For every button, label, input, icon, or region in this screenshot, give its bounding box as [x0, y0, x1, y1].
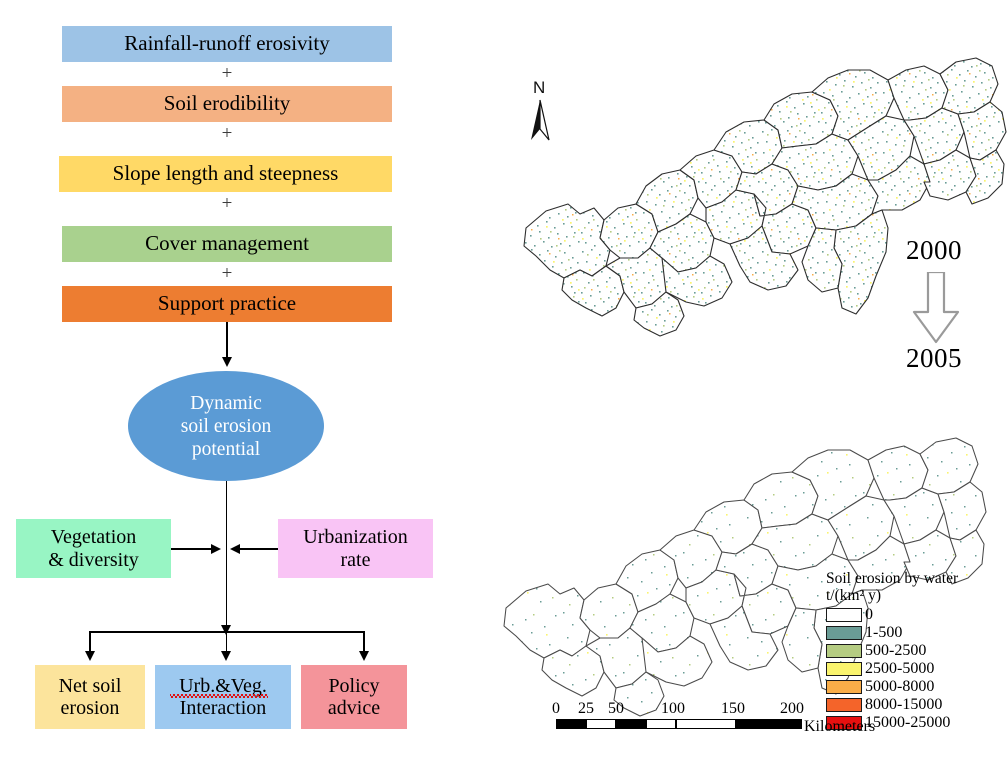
- factor-box-rainfall-runoff-erosivity[interactable]: Rainfall-runoff erosivity: [62, 26, 392, 62]
- core-ellipse-label: Dynamic soil erosion potential: [181, 392, 271, 461]
- legend-swatch-3: [826, 662, 862, 676]
- scalebar-units-label: Kilometers: [804, 718, 875, 736]
- legend-entry[interactable]: 500-2500: [826, 642, 958, 660]
- output-label: Net soil erosion: [59, 675, 122, 720]
- scalebar-segment: [586, 719, 616, 729]
- scalebar-tick: 150: [721, 700, 745, 718]
- output-box-net-soil-erosion[interactable]: Net soil erosion: [35, 665, 145, 729]
- core-ellipse-dynamic-soil-erosion-potential[interactable]: Dynamic soil erosion potential: [128, 371, 324, 481]
- driver-box-urbanization-rate[interactable]: Urbanization rate: [278, 519, 433, 578]
- scalebar-tick: 50: [608, 700, 624, 718]
- figure-canvas: Rainfall-runoff erosivity + Soil erodibi…: [0, 0, 1008, 768]
- year-label-2000: 2000: [906, 235, 962, 266]
- arrow-urbanization-to-spine-icon: [230, 544, 240, 554]
- legend-entry[interactable]: 0: [826, 606, 958, 624]
- legend-swatch-1: [826, 626, 862, 640]
- scalebar-segment: [646, 719, 676, 729]
- connector-urbanization-to-spine: [240, 548, 278, 550]
- driver-label: Urbanization rate: [303, 526, 407, 571]
- legend-label: 0: [865, 607, 873, 623]
- legend-entries: 0 1-500 500-2500 2500-5000 5000-8000: [826, 606, 958, 732]
- factor-label: Support practice: [158, 292, 296, 316]
- factor-box-cover-management[interactable]: Cover management: [62, 226, 392, 262]
- map-legend: Soil erosion by water t/(km² y) 0 1-500 …: [826, 570, 958, 732]
- factor-label: Rainfall-runoff erosivity: [124, 32, 329, 56]
- spellcheck-underline-icon: [170, 694, 268, 698]
- connector-vegetation-to-spine: [171, 548, 213, 550]
- driver-label: Vegetation & diversity: [48, 526, 139, 571]
- scalebar-bar: Kilometers: [556, 719, 802, 729]
- scalebar-tick: 200: [780, 700, 804, 718]
- arrow-support-to-core-icon: [222, 357, 232, 367]
- legend-entry[interactable]: 8000-15000: [826, 696, 958, 714]
- output-label: Policy advice: [328, 675, 380, 720]
- arrow-vegetation-to-spine-icon: [211, 544, 221, 554]
- legend-swatch-0: [826, 608, 862, 622]
- legend-entry[interactable]: 1-500: [826, 624, 958, 642]
- scalebar-tick: 25: [578, 700, 594, 718]
- transition-arrow-icon: [908, 272, 964, 344]
- scalebar-tick: 100: [661, 700, 685, 718]
- driver-box-vegetation-and-diversity[interactable]: Vegetation & diversity: [16, 519, 171, 578]
- legend-label: 8000-15000: [865, 697, 942, 713]
- scalebar-segment: [736, 719, 802, 729]
- arrow-output-center-icon: [221, 651, 231, 661]
- operator-plus-3: +: [213, 194, 241, 213]
- operator-plus-1: +: [213, 64, 241, 83]
- legend-swatch-4: [826, 680, 862, 694]
- factor-box-support-practice[interactable]: Support practice: [62, 286, 392, 322]
- scalebar-tick-labels: 0 25 50 100 150 200: [556, 700, 802, 719]
- legend-swatch-5: [826, 698, 862, 712]
- map-scalebar: 0 25 50 100 150 200 Kilometers: [556, 700, 802, 729]
- legend-entry[interactable]: 5000-8000: [826, 678, 958, 696]
- connector-support-to-core: [226, 322, 228, 359]
- factor-box-soil-erodibility[interactable]: Soil erodibility: [62, 86, 392, 122]
- scalebar-segment: [676, 719, 736, 729]
- legend-label: 2500-5000: [865, 661, 934, 677]
- legend-swatch-2: [826, 644, 862, 658]
- legend-title: Soil erosion by water t/(km² y): [826, 570, 958, 605]
- legend-label: 5000-8000: [865, 679, 934, 695]
- legend-label: 1-500: [865, 625, 902, 641]
- output-box-policy-advice[interactable]: Policy advice: [301, 665, 407, 729]
- arrow-output-right-icon: [359, 651, 369, 661]
- operator-plus-2: +: [213, 124, 241, 143]
- legend-entry[interactable]: 2500-5000: [826, 660, 958, 678]
- year-label-2005: 2005: [906, 343, 962, 374]
- factor-label: Cover management: [145, 232, 309, 256]
- legend-label: 500-2500: [865, 643, 926, 659]
- operator-plus-4: +: [213, 264, 241, 283]
- scalebar-tick: 0: [552, 700, 560, 718]
- scalebar-segment: [616, 719, 646, 729]
- connector-core-spine: [226, 481, 228, 631]
- legend-label: 15000-25000: [865, 715, 950, 731]
- factor-label: Slope length and steepness: [113, 162, 339, 186]
- factor-label: Soil erodibility: [164, 92, 291, 116]
- factor-box-slope-length-and-steepness[interactable]: Slope length and steepness: [59, 156, 392, 192]
- scalebar-segment: [556, 719, 586, 729]
- arrow-output-left-icon: [85, 651, 95, 661]
